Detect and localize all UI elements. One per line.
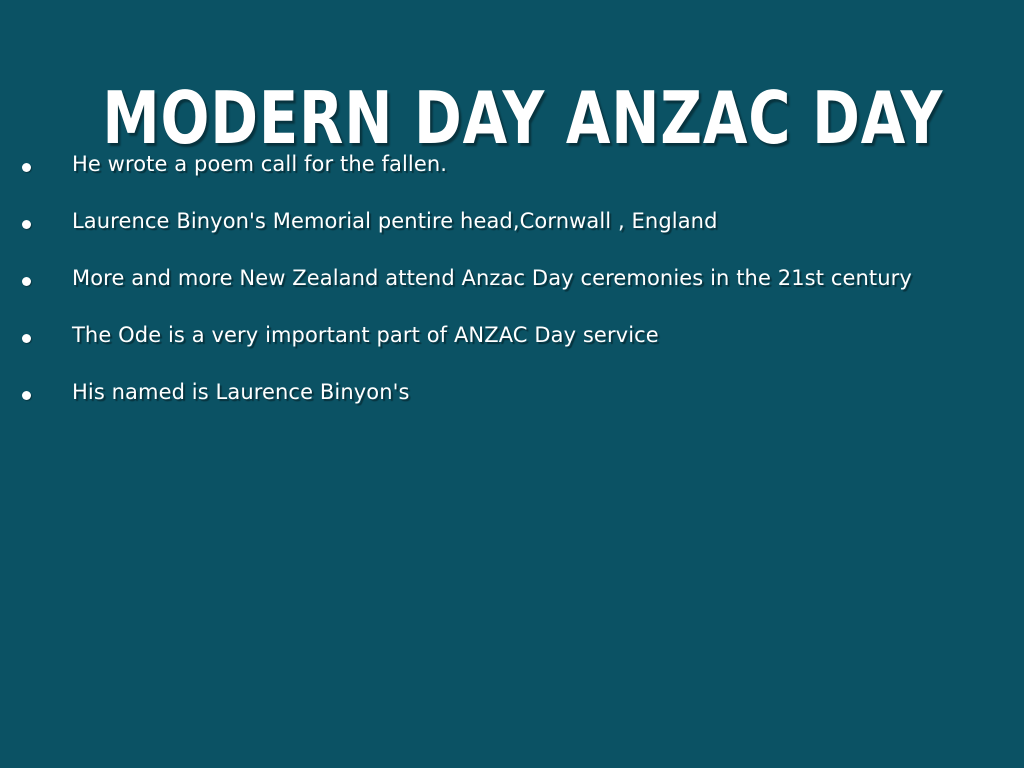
bullet-text: More and more New Zealand attend Anzac D… xyxy=(72,262,1004,294)
bullet-dot-icon xyxy=(22,277,31,286)
bullet-dot-icon xyxy=(22,163,31,172)
bullet-text: He wrote a poem call for the fallen. xyxy=(72,148,1004,180)
list-item: Laurence Binyon's Memorial pentire head,… xyxy=(0,205,1024,262)
list-item: His named is Laurence Binyon's xyxy=(0,376,1024,433)
bullet-list: He wrote a poem call for the fallen. Lau… xyxy=(0,148,1024,433)
bullet-dot-icon xyxy=(22,220,31,229)
presentation-slide: MODERN DAY ANZAC DAY He wrote a poem cal… xyxy=(0,0,1024,768)
bullet-dot-icon xyxy=(22,391,31,400)
list-item: He wrote a poem call for the fallen. xyxy=(0,148,1024,205)
bullet-text: Laurence Binyon's Memorial pentire head,… xyxy=(72,205,1004,237)
page-title: MODERN DAY ANZAC DAY xyxy=(102,82,921,154)
list-item: The Ode is a very important part of ANZA… xyxy=(0,319,1024,376)
list-item: More and more New Zealand attend Anzac D… xyxy=(0,262,1024,319)
bullet-text: His named is Laurence Binyon's xyxy=(72,376,1004,408)
bullet-text: The Ode is a very important part of ANZA… xyxy=(72,319,1004,351)
bullet-dot-icon xyxy=(22,334,31,343)
